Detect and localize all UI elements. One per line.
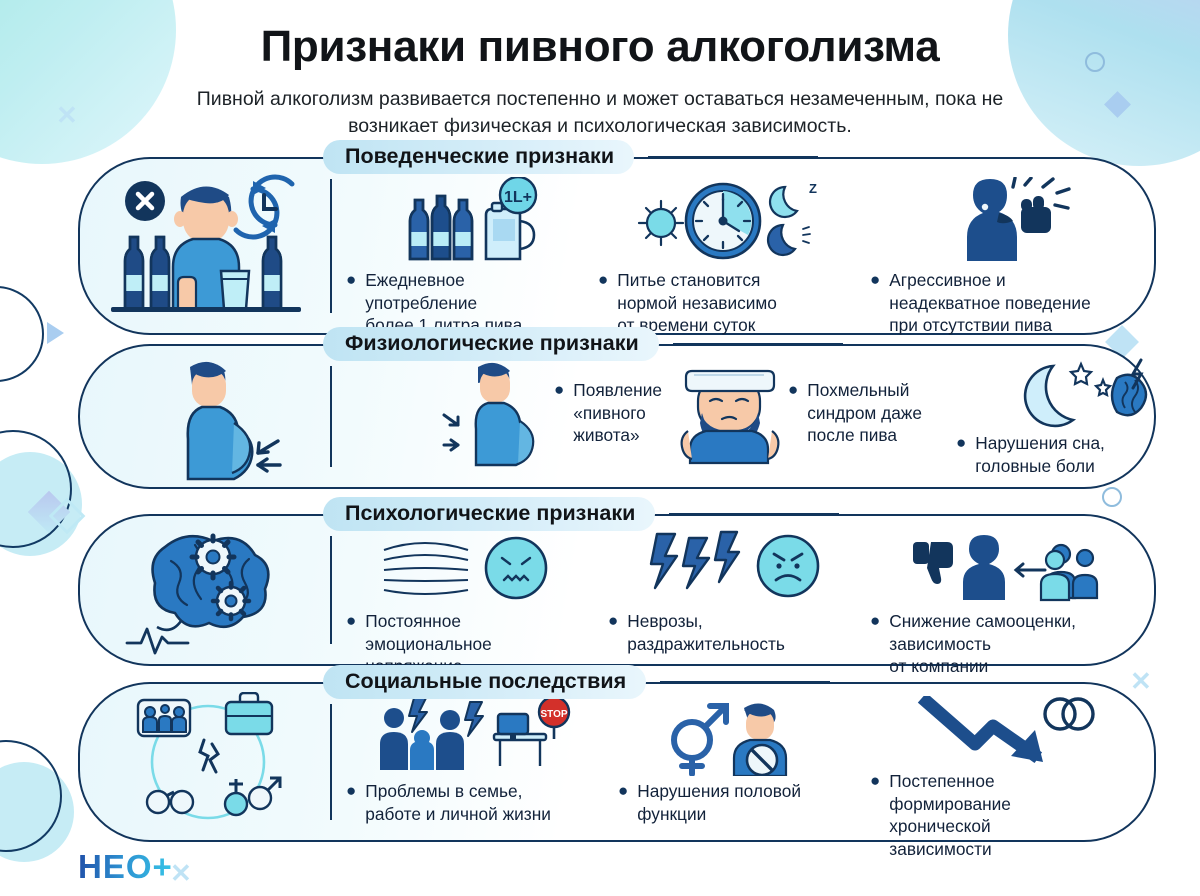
brand-logo: НЕО+ [78,848,173,886]
bullet-dot: ● [956,432,966,477]
bullet-text: Неврозы, раздражительность [627,610,785,655]
item-daily-consumption: 1L+ ● Ежедневное употребление более 1 ли… [346,171,596,323]
item-hangover: ● Похмельный синдром даже после пива [676,358,926,477]
section-rule [648,156,818,158]
section-social: Социальные последствия [78,682,1156,842]
section-divider [330,536,332,644]
sparkle-icon: ✕ [56,102,78,128]
bullet-text: Снижение самооценки, зависимость от комп… [889,610,1076,678]
item-low-self-esteem: ● Снижение самооценки, зависимость от ко… [870,528,1140,654]
bullet-dot: ● [608,610,618,655]
illustration-broken-chain-family-work [94,692,322,832]
bullet-row: ● Похмельный синдром даже после пива [788,379,922,447]
section-divider [330,704,332,820]
bullet-text: Агрессивное и неадекватное поведение при… [889,269,1090,337]
section-behavioral: Поведенческие признаки [78,157,1156,335]
item-neuroses: ● Неврозы, раздражительность [608,528,858,654]
bullet-row: ● Снижение самооценки, зависимость от ко… [870,610,1140,678]
illustration-man-with-beer-bottles [94,167,322,325]
svg-text:1L+: 1L+ [504,189,532,206]
decor-ring-left-bottom [0,740,62,852]
aggressive-shouting-man-icon [870,171,1140,263]
section-header-psychological: Психологические признаки [323,497,839,531]
bullet-row: ● Неврозы, раздражительность [608,610,858,655]
section-items: ● Появление «пивного живота» [346,358,1138,477]
bullet-dot: ● [870,610,880,678]
bullet-row: ● Агрессивное и неадекватное поведение п… [870,269,1140,337]
section-divider [330,366,332,467]
bullet-dot: ● [618,780,628,825]
beer-belly-arrows-icon [436,359,546,467]
decor-ring-left-top [0,286,44,382]
decor-ring-left-mid [0,430,72,548]
page-subtitle: Пивной алкоголизм развивается постепенно… [150,86,1050,140]
section-header-behavioral: Поведенческие признаки [323,140,818,174]
section-psychological: Психологические признаки [78,514,1156,666]
item-drinking-any-time: Z ● Питье становится нормой независимо о… [598,171,858,323]
item-beer-belly: ● Появление «пивного живота» [436,358,636,477]
beer-bottles-1liter-icon: 1L+ [346,171,596,263]
downward-arrow-rings-icon [870,696,1140,768]
section-rule [669,513,839,515]
section-items: ● Постоянное эмоциональное напряжение [346,528,1138,654]
tense-face-icon [346,528,596,606]
section-items: 1L+ ● Ежедневное употребление более 1 ли… [346,171,1138,323]
item-sleep-disorders: ● Нарушения сна, головные боли [956,358,1186,477]
bullet-row: ● Проблемы в семье, работе и личной жизн… [346,780,608,825]
svg-text:STOP: STOP [540,709,567,720]
section-title: Физиологические признаки [323,327,659,361]
bullet-dot: ● [870,269,880,337]
bullet-row: ● Появление «пивного живота» [554,379,662,447]
bullet-text: Постепенное формирование хронической зав… [889,770,1011,860]
bullet-text: Нарушения сна, головные боли [975,432,1105,477]
item-chronic-dependence: ● Постепенное формирование хронической з… [870,696,1140,830]
bullet-dot: ● [788,379,798,447]
bullet-row: ● Нарушения половой функции [618,780,858,825]
gender-symbol-blocked-icon [618,696,858,776]
decor-circle-fill-left-mid [0,452,82,556]
moon-stars-brain-icon [956,358,1186,430]
hangover-headache-man-icon [676,361,784,465]
decor-diamond-left-filled [28,491,70,533]
svg-text:Z: Z [809,181,817,196]
bullet-row: ● Нарушения сна, головные боли [956,432,1186,477]
bullet-dot: ● [870,770,880,860]
page-title: Признаки пивного алкоголизма [0,22,1200,72]
bullet-text: Появление «пивного живота» [573,379,662,447]
item-aggressive-behavior: ● Агрессивное и неадекватное поведение п… [870,171,1140,323]
sparkle-icon: ✕ [170,860,192,886]
decor-diamond-top-right [1104,91,1131,118]
illustration-beer-belly-profile [94,354,322,479]
clock-sun-moon-icon: Z [598,171,858,263]
decor-circle-fill-left-bottom [0,762,74,862]
section-header-physiological: Физиологические признаки [323,327,843,361]
section-header-social: Социальные последствия [323,665,830,699]
decor-triangle-left [47,322,64,344]
section-title: Поведенческие признаки [323,140,634,174]
bullet-row: ● Постепенное формирование хронической з… [870,770,1140,860]
section-title: Психологические признаки [323,497,655,531]
bullet-dot: ● [346,780,356,825]
section-title: Социальные последствия [323,665,646,699]
bullet-text: Нарушения половой функции [637,780,801,825]
item-sexual-dysfunction: ● Нарушения половой функции [618,696,858,830]
section-divider [330,179,332,313]
illustration-brain-with-gears [94,524,322,656]
section-rule [673,343,843,345]
bullet-text: Похмельный синдром даже после пива [807,379,922,447]
family-conflict-work-stop-icon: STOP [346,696,608,776]
item-emotional-tension: ● Постоянное эмоциональное напряжение [346,528,596,654]
section-rule [660,681,830,683]
lightning-angry-face-icon [608,528,858,606]
bullet-text: Проблемы в семье, работе и личной жизни [365,780,551,825]
decor-small-ring-mid-right [1102,487,1122,507]
section-items: STOP ● Проблемы в семье, работе и личной… [346,696,1138,830]
item-family-problems: STOP ● Проблемы в семье, работе и личной… [346,696,608,830]
thumbs-down-group-icon [870,528,1140,606]
infographic-root: ✕ ✕ ✕ Признаки пивного алкоголизма Пивно… [0,0,1200,896]
bullet-dot: ● [554,379,564,447]
section-physiological: Физиологические признаки [78,344,1156,489]
